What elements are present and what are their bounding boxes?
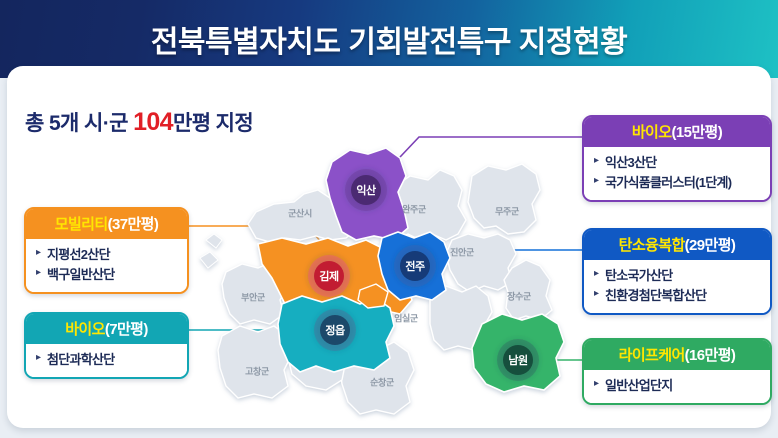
callout-item: 익산3산단 [594, 153, 760, 173]
callout-body-carbon: 탄소국가산단 친환경첨단복합산단 [584, 260, 770, 313]
callout-bio-jeongeup[interactable]: 바이오(7만평) 첨단과학산단 [24, 312, 189, 379]
callout-title-rest: (37만평) [108, 216, 159, 233]
callout-body-lifecare: 일반산업단지 [584, 370, 770, 403]
map-label-gochang: 고창군 [245, 365, 269, 378]
callout-title-rest: (7만평) [105, 321, 148, 338]
callout-title-accent: 바이오 [65, 321, 105, 338]
callout-carbon[interactable]: 탄소융복합(29만평) 탄소국가산단 친환경첨단복합산단 [582, 228, 772, 315]
map-label-buan: 부안군 [241, 291, 265, 304]
infographic-root: 전북특별자치도 기회발전특구 지정현황 총 5개 시·군 104만평 지정 [0, 0, 778, 438]
map-region-muju [468, 164, 540, 234]
callout-item: 탄소국가산단 [594, 266, 760, 286]
callout-title-rest: (15만평) [671, 124, 722, 141]
map-marker-jeongeup[interactable]: 정읍 [314, 309, 356, 351]
map-marker-label-jeonju: 전주 [405, 259, 425, 273]
callout-title-carbon: 탄소융복합(29만평) [584, 230, 770, 260]
map-label-sunchang: 순창군 [370, 376, 394, 389]
map-marker-label-iksan: 익산 [356, 183, 376, 197]
callout-title-accent: 모빌리티 [55, 216, 108, 233]
map-label-jinan: 진안군 [450, 246, 474, 259]
callout-body-bio-iksan: 익산3산단 국가식품클러스터(1단계) [584, 147, 770, 200]
callout-title-rest: (16만평) [685, 347, 736, 364]
callout-item: 백구일반산단 [36, 265, 177, 285]
callout-body-mobility: 지평선2산단 백구일반산단 [26, 239, 187, 292]
callout-item: 일반산업단지 [594, 376, 760, 396]
callout-title-rest: (29만평) [685, 237, 736, 254]
callout-title-mobility: 모빌리티(37만평) [26, 209, 187, 239]
callout-title-lifecare: 라이프케어(16만평) [584, 340, 770, 370]
callout-title-accent: 탄소융복합 [619, 237, 685, 254]
callout-bio-iksan[interactable]: 바이오(15만평) 익산3산단 국가식품클러스터(1단계) [582, 115, 772, 202]
callout-lifecare[interactable]: 라이프케어(16만평) 일반산업단지 [582, 338, 772, 405]
summary-highlight: 104 [133, 108, 173, 136]
summary-prefix: 총 5개 시·군 [25, 112, 133, 135]
callout-mobility[interactable]: 모빌리티(37만평) 지평선2산단 백구일반산단 [24, 207, 189, 294]
jeonbuk-map: 익산 김제 전주 정읍 남원 [196, 128, 596, 423]
map-marker-gimje[interactable]: 김제 [308, 255, 350, 297]
map-island-b [200, 252, 218, 268]
callout-title-accent: 바이오 [632, 124, 672, 141]
callout-title-bio-iksan: 바이오(15만평) [584, 117, 770, 147]
map-marker-label-gimje: 김제 [319, 269, 339, 283]
map-island-a [206, 234, 222, 248]
map-label-gunsan: 군산시 [288, 207, 312, 220]
map-label-wanju: 완주군 [402, 203, 426, 216]
map-label-imsil: 임실군 [394, 312, 418, 325]
map-marker-iksan[interactable]: 익산 [345, 169, 387, 211]
callout-body-bio-jeongeup: 첨단과학산단 [26, 344, 187, 377]
callout-item: 국가식품클러스터(1단계) [594, 173, 760, 193]
map-marker-jeonju[interactable]: 전주 [394, 245, 436, 287]
callout-title-bio-jeongeup: 바이오(7만평) [26, 314, 187, 344]
map-marker-label-namwon: 남원 [508, 353, 528, 367]
callout-title-accent: 라이프케어 [619, 347, 685, 364]
map-marker-label-jeongeup: 정읍 [325, 323, 345, 337]
map-label-muju: 무주군 [495, 205, 519, 218]
callout-item: 지평선2산단 [36, 245, 177, 265]
map-marker-namwon[interactable]: 남원 [497, 339, 539, 381]
page-title: 전북특별자치도 기회발전특구 지정현황 [151, 17, 627, 61]
callout-item: 친환경첨단복합산단 [594, 286, 760, 306]
map-label-jangsu: 장수군 [507, 290, 531, 303]
callout-item: 첨단과학산단 [36, 350, 177, 370]
